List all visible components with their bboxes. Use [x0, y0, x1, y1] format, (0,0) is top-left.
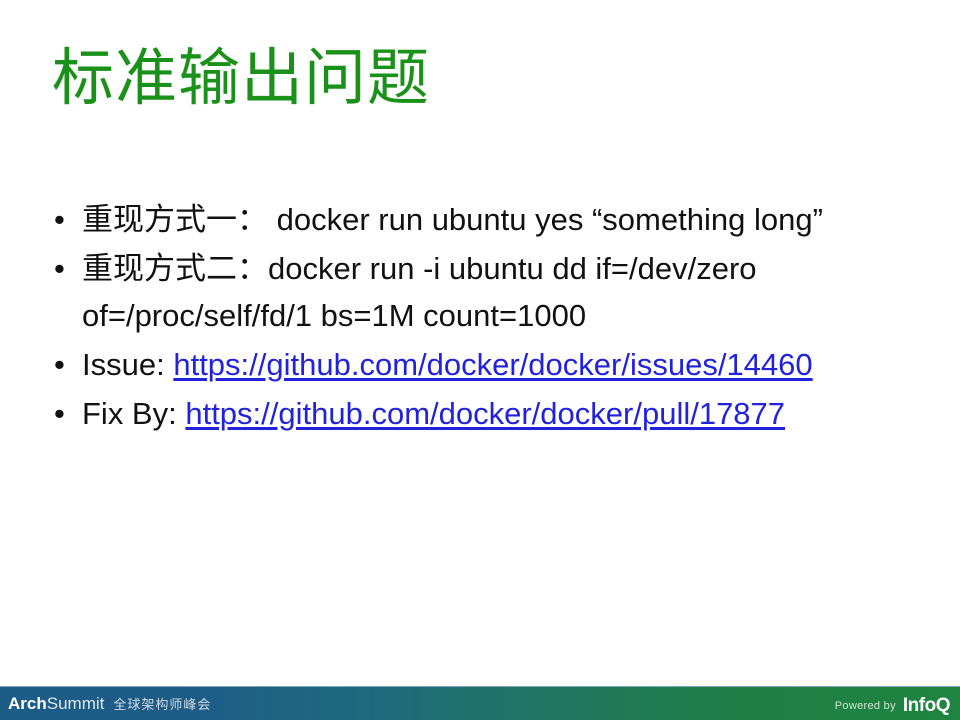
bullet-marker-icon: •: [54, 245, 65, 292]
bullet-repro-1-line-1: 重现方式一： docker run ubuntu yes “something: [82, 202, 745, 237]
footer-brand: ArchSummit全球架构师峰会: [8, 693, 211, 716]
bullet-item-repro-1: • 重现方式一： docker run ubuntu yes “somethin…: [48, 196, 928, 243]
bullet-marker-icon: •: [54, 196, 65, 243]
issue-link[interactable]: https://github.com/docker/docker/issues/…: [173, 347, 812, 382]
bullet-list: • 重现方式一： docker run ubuntu yes “somethin…: [48, 196, 928, 439]
bullet-item-issue: • Issue: https://github.com/docker/docke…: [48, 341, 928, 388]
footer-brand-summit: Summit: [47, 694, 105, 713]
bullet-marker-icon: •: [54, 341, 65, 388]
bullet-item-fix-by: • Fix By: https://github.com/docker/dock…: [48, 390, 928, 437]
infoq-logo: InfoQ: [903, 695, 950, 717]
footer-brand-chinese: 全球架构师峰会: [113, 697, 211, 712]
bullet-marker-icon: •: [54, 390, 65, 437]
footer-brand-arch: Arch: [8, 694, 47, 713]
slide-footer: ArchSummit全球架构师峰会 Powered by InfoQ: [0, 686, 960, 720]
bullet-repro-2-line-2: of=/proc/self/fd/1 bs=1M count=1000: [82, 298, 586, 333]
powered-by-label: Powered by: [835, 700, 896, 712]
bullet-repro-1-line-2: long”: [754, 202, 823, 237]
presentation-slide: 标准输出问题 • 重现方式一： docker run ubuntu yes “s…: [0, 0, 960, 720]
bullet-item-repro-2: • 重现方式二：docker run -i ubuntu dd if=/dev/…: [48, 245, 928, 339]
slide-title: 标准输出问题: [52, 44, 430, 113]
bullet-repro-2-line-1: 重现方式二：docker run -i ubuntu dd if=/dev/ze…: [82, 251, 757, 286]
footer-powered-by: Powered by InfoQ: [835, 695, 950, 717]
fix-by-label: Fix By:: [82, 396, 185, 431]
issue-label: Issue:: [82, 347, 165, 382]
fix-by-link[interactable]: https://github.com/docker/docker/pull/17…: [185, 396, 785, 431]
